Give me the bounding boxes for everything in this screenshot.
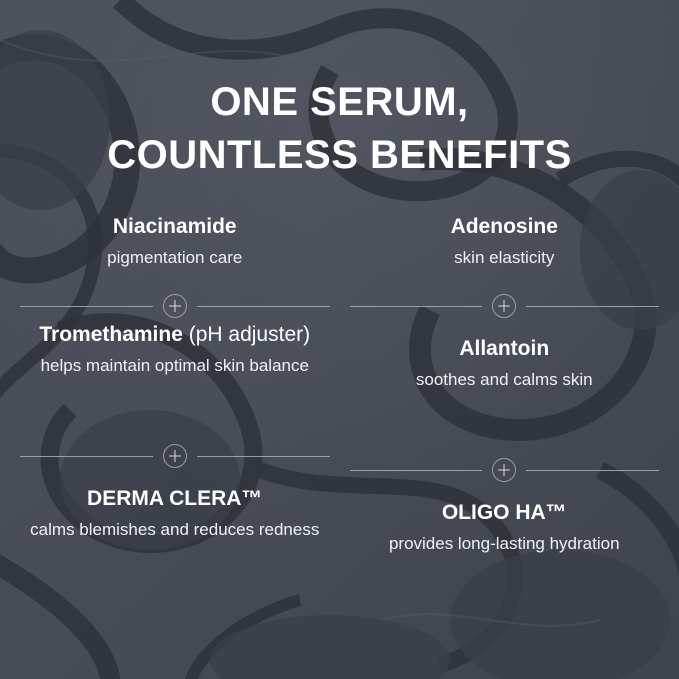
divider-rule <box>197 306 330 307</box>
benefit-description: soothes and calms skin <box>350 369 660 391</box>
benefit-item-adenosine: Adenosine skin elasticity <box>350 214 660 290</box>
benefit-item-derma-clera: DERMA CLERA™ calms blemishes and reduces… <box>20 472 330 586</box>
benefit-title-main: Adenosine <box>451 215 558 238</box>
benefit-description: helps maintain optimal skin balance <box>20 355 330 377</box>
divider-rule <box>526 306 659 307</box>
plus-icon <box>492 458 516 482</box>
headline-line-2: COUNTLESS BENEFITS <box>0 129 679 182</box>
poster-content: ONE SERUM, COUNTLESS BENEFITS Niacinamid… <box>0 0 679 679</box>
benefit-title-main: Allantoin <box>459 337 549 360</box>
divider-rule <box>350 306 483 307</box>
plus-icon <box>492 294 516 318</box>
benefit-title-main: OLIGO HA™ <box>442 501 567 524</box>
divider-rule <box>197 456 330 457</box>
headline-line-1: ONE SERUM, <box>0 76 679 129</box>
benefit-title-suffix: (pH adjuster) <box>183 323 310 346</box>
benefits-grid: Niacinamide pigmentation care Tromethami… <box>0 214 679 600</box>
benefit-description: provides long-lasting hydration <box>350 533 660 555</box>
divider-rule <box>350 470 483 471</box>
benefit-title: OLIGO HA™ <box>350 500 660 526</box>
plus-icon <box>163 294 187 318</box>
benefit-description: skin elasticity <box>350 247 660 269</box>
benefit-title: Allantoin <box>350 336 660 362</box>
benefit-title-main: Niacinamide <box>113 215 237 238</box>
benefits-column-right: Adenosine skin elasticity Allantoin soot… <box>340 214 679 600</box>
benefit-title: DERMA CLERA™ <box>20 486 330 512</box>
benefits-poster: ONE SERUM, COUNTLESS BENEFITS Niacinamid… <box>0 0 679 679</box>
divider-left-2 <box>20 440 330 472</box>
divider-rule <box>526 470 659 471</box>
divider-rule <box>20 306 153 307</box>
divider-left-1 <box>20 290 330 322</box>
page-title: ONE SERUM, COUNTLESS BENEFITS <box>0 76 679 182</box>
divider-right-1 <box>350 290 660 322</box>
benefit-item-allantoin: Allantoin soothes and calms skin <box>350 322 660 454</box>
benefit-item-niacinamide: Niacinamide pigmentation care <box>20 214 330 290</box>
benefit-item-tromethamine: Tromethamine (pH adjuster) helps maintai… <box>20 322 330 440</box>
benefit-title-main: DERMA CLERA™ <box>87 487 262 510</box>
plus-icon <box>163 444 187 468</box>
benefit-title: Adenosine <box>350 214 660 240</box>
benefit-title: Tromethamine (pH adjuster) <box>20 322 330 348</box>
divider-rule <box>20 456 153 457</box>
benefits-column-left: Niacinamide pigmentation care Tromethami… <box>0 214 340 600</box>
benefit-title: Niacinamide <box>20 214 330 240</box>
benefit-description: pigmentation care <box>20 247 330 269</box>
benefit-item-oligo-ha: OLIGO HA™ provides long-lasting hydratio… <box>350 486 660 600</box>
benefit-description: calms blemishes and reduces redness <box>20 519 330 541</box>
benefit-title-main: Tromethamine <box>39 323 183 346</box>
divider-right-2 <box>350 454 660 486</box>
